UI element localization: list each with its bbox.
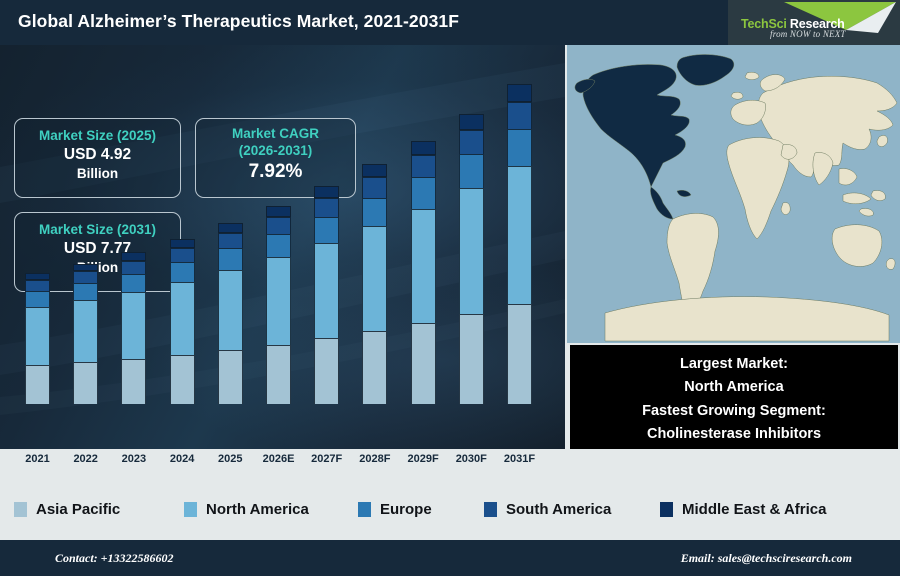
bar-segment[interactable] [121, 359, 146, 404]
bar-segment[interactable] [411, 323, 436, 404]
bar-segment[interactable] [121, 261, 146, 274]
infographic-root: Global Alzheimer’s Therapeutics Market, … [0, 0, 900, 576]
bar-segment[interactable] [411, 141, 436, 156]
bar-segment[interactable] [25, 291, 50, 307]
legend-swatch [358, 502, 371, 517]
bar-segment[interactable] [170, 355, 195, 404]
x-axis-tick: 2023 [110, 453, 158, 465]
legend-label: North America [206, 501, 309, 518]
stacked-bar-chart [0, 45, 565, 449]
chart-panel: Market Size (2025) USD 4.92 Billion Mark… [0, 45, 565, 449]
bar-segment[interactable] [121, 252, 146, 260]
bar-segment[interactable] [25, 273, 50, 280]
bar-segment[interactable] [314, 338, 339, 404]
bar-segment[interactable] [459, 114, 484, 130]
bar-segment[interactable] [362, 177, 387, 197]
legend-item[interactable]: Europe [358, 501, 432, 518]
x-axis-tick: 2021 [14, 453, 62, 465]
legend-swatch [660, 502, 673, 517]
bar-segment[interactable] [362, 226, 387, 331]
legend-item[interactable]: North America [184, 501, 309, 518]
bar-column[interactable] [73, 263, 98, 404]
bar-segment[interactable] [121, 292, 146, 359]
bar-segment[interactable] [362, 331, 387, 404]
bar-segment[interactable] [218, 248, 243, 270]
legend-swatch [14, 502, 27, 517]
x-axis-tick: 2028F [351, 453, 399, 465]
bar-column[interactable] [507, 84, 532, 404]
bar-column[interactable] [314, 186, 339, 404]
bar-segment[interactable] [314, 217, 339, 243]
bar-segment[interactable] [218, 223, 243, 233]
legend-label: Middle East & Africa [682, 501, 826, 518]
bar-segment[interactable] [170, 239, 195, 248]
bar-segment[interactable] [170, 262, 195, 282]
legend-label: Europe [380, 501, 432, 518]
x-axis-tick: 2027F [303, 453, 351, 465]
bar-segment[interactable] [459, 130, 484, 154]
bar-column[interactable] [459, 114, 484, 404]
callout-line-largest-market-label: Largest Market: [570, 353, 898, 376]
x-axis-tick: 2026E [255, 453, 303, 465]
logo-tagline: from NOW to NEXT [770, 29, 846, 39]
bar-segment[interactable] [266, 345, 291, 404]
bar-segment[interactable] [25, 365, 50, 404]
bar-segment[interactable] [507, 84, 532, 102]
bar-segment[interactable] [73, 300, 98, 362]
bar-segment[interactable] [411, 155, 436, 177]
bar-segment[interactable] [507, 102, 532, 129]
chart-legend: Asia PacificNorth AmericaEuropeSouth Ame… [0, 473, 900, 546]
footer-email: Email: sales@techsciresearch.com [681, 551, 852, 566]
bar-segment[interactable] [170, 282, 195, 355]
bar-segment[interactable] [121, 274, 146, 292]
callout-line-fastest-segment-value: Cholinesterase Inhibitors [570, 423, 898, 446]
bar-column[interactable] [218, 223, 243, 404]
bar-segment[interactable] [25, 280, 50, 291]
bar-segment[interactable] [25, 307, 50, 365]
x-axis-tick: 2024 [158, 453, 206, 465]
bar-segment[interactable] [266, 217, 291, 234]
bar-segment[interactable] [314, 186, 339, 198]
bar-segment[interactable] [218, 270, 243, 350]
x-axis-tick: 2025 [206, 453, 254, 465]
footer-contact: Contact: +13322586602 [55, 551, 174, 566]
bar-segment[interactable] [218, 350, 243, 404]
legend-item[interactable]: Middle East & Africa [660, 501, 826, 518]
bar-column[interactable] [121, 252, 146, 404]
callout-line-largest-market-value: North America [570, 376, 898, 399]
bar-segment[interactable] [73, 362, 98, 404]
x-axis-labels: 202120222023202420252026E2027F2028F2029F… [0, 449, 565, 473]
bar-column[interactable] [266, 206, 291, 404]
callout-line-fastest-segment-label: Fastest Growing Segment: [570, 400, 898, 423]
bar-column[interactable] [411, 141, 436, 404]
bar-segment[interactable] [266, 257, 291, 344]
legend-swatch [184, 502, 197, 517]
legend-item[interactable]: South America [484, 501, 611, 518]
bar-segment[interactable] [73, 283, 98, 300]
x-axis-tick: 2031F [496, 453, 544, 465]
header-bar: Global Alzheimer’s Therapeutics Market, … [0, 0, 900, 45]
bar-segment[interactable] [411, 209, 436, 324]
techsci-research-logo: TechSci Research from NOW to NEXT [728, 0, 900, 45]
bar-segment[interactable] [507, 166, 532, 304]
x-axis-tick: 2029F [399, 453, 447, 465]
bar-segment[interactable] [73, 271, 98, 283]
world-map-svg [567, 45, 900, 343]
bar-segment[interactable] [507, 304, 532, 404]
bar-column[interactable] [25, 273, 50, 404]
bar-segment[interactable] [459, 188, 484, 314]
x-axis-tick: 2022 [62, 453, 110, 465]
bar-column[interactable] [362, 164, 387, 404]
bar-segment[interactable] [507, 129, 532, 166]
bar-segment[interactable] [170, 248, 195, 262]
page-title: Global Alzheimer’s Therapeutics Market, … [18, 11, 459, 32]
bar-segment[interactable] [314, 243, 339, 338]
bar-segment[interactable] [218, 233, 243, 249]
bar-segment[interactable] [73, 264, 98, 271]
bar-segment[interactable] [459, 154, 484, 188]
callout-box: Largest Market: North America Fastest Gr… [570, 345, 898, 449]
footer-bar: Contact: +13322586602 Email: sales@techs… [0, 540, 900, 576]
bar-segment[interactable] [362, 198, 387, 227]
bar-segment[interactable] [411, 177, 436, 208]
world-map [567, 45, 900, 343]
legend-label: South America [506, 501, 611, 518]
legend-label: Asia Pacific [36, 501, 120, 518]
bar-column[interactable] [170, 239, 195, 404]
bar-segment[interactable] [266, 206, 291, 217]
bar-segment[interactable] [459, 314, 484, 404]
x-axis-tick: 2030F [447, 453, 495, 465]
bar-segment[interactable] [314, 198, 339, 216]
bar-segment[interactable] [362, 164, 387, 177]
bar-segment[interactable] [266, 234, 291, 258]
legend-item[interactable]: Asia Pacific [14, 501, 120, 518]
legend-swatch [484, 502, 497, 517]
